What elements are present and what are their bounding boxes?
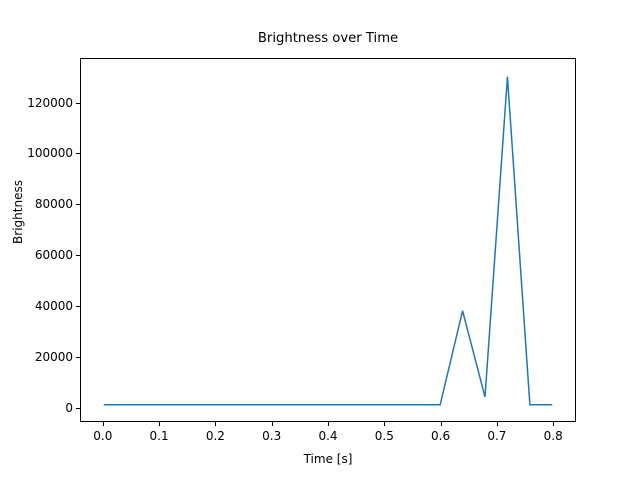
x-tick-label: 0.3: [242, 430, 302, 442]
x-tick-mark: [497, 422, 498, 426]
x-tick-mark: [272, 422, 273, 426]
x-tick-label: 0.8: [523, 430, 583, 442]
x-tick-label: 0.5: [354, 430, 414, 442]
x-tick-mark: [384, 422, 385, 426]
y-tick-label: 0: [65, 402, 73, 414]
x-tick-mark: [159, 422, 160, 426]
x-tick-label: 0.1: [129, 430, 189, 442]
x-tick-label: 0.0: [73, 430, 133, 442]
chart-title: Brightness over Time: [80, 31, 576, 47]
x-tick-mark: [103, 422, 104, 426]
plot-area: [80, 58, 576, 422]
data-line-svg: [81, 59, 575, 421]
y-tick-label: 80000: [35, 198, 73, 210]
x-axis-label: Time [s]: [80, 452, 576, 466]
x-tick-label: 0.6: [411, 430, 471, 442]
x-tick-mark: [441, 422, 442, 426]
series-line-brightness: [104, 77, 553, 405]
y-tick-label: 120000: [27, 97, 73, 109]
x-tick-label: 0.2: [185, 430, 245, 442]
x-tick-label: 0.7: [467, 430, 527, 442]
x-tick-mark: [328, 422, 329, 426]
y-tick-label: 40000: [35, 300, 73, 312]
y-tick-label: 100000: [27, 147, 73, 159]
x-tick-mark: [553, 422, 554, 426]
y-tick-label: 60000: [35, 249, 73, 261]
y-axis-tick-labels: 020000400006000080000100000120000: [0, 0, 73, 480]
x-tick-mark: [215, 422, 216, 426]
y-tick-label: 20000: [35, 351, 73, 363]
x-tick-label: 0.4: [298, 430, 358, 442]
figure-canvas: Brightness over Time Brightness 02000040…: [0, 0, 640, 480]
